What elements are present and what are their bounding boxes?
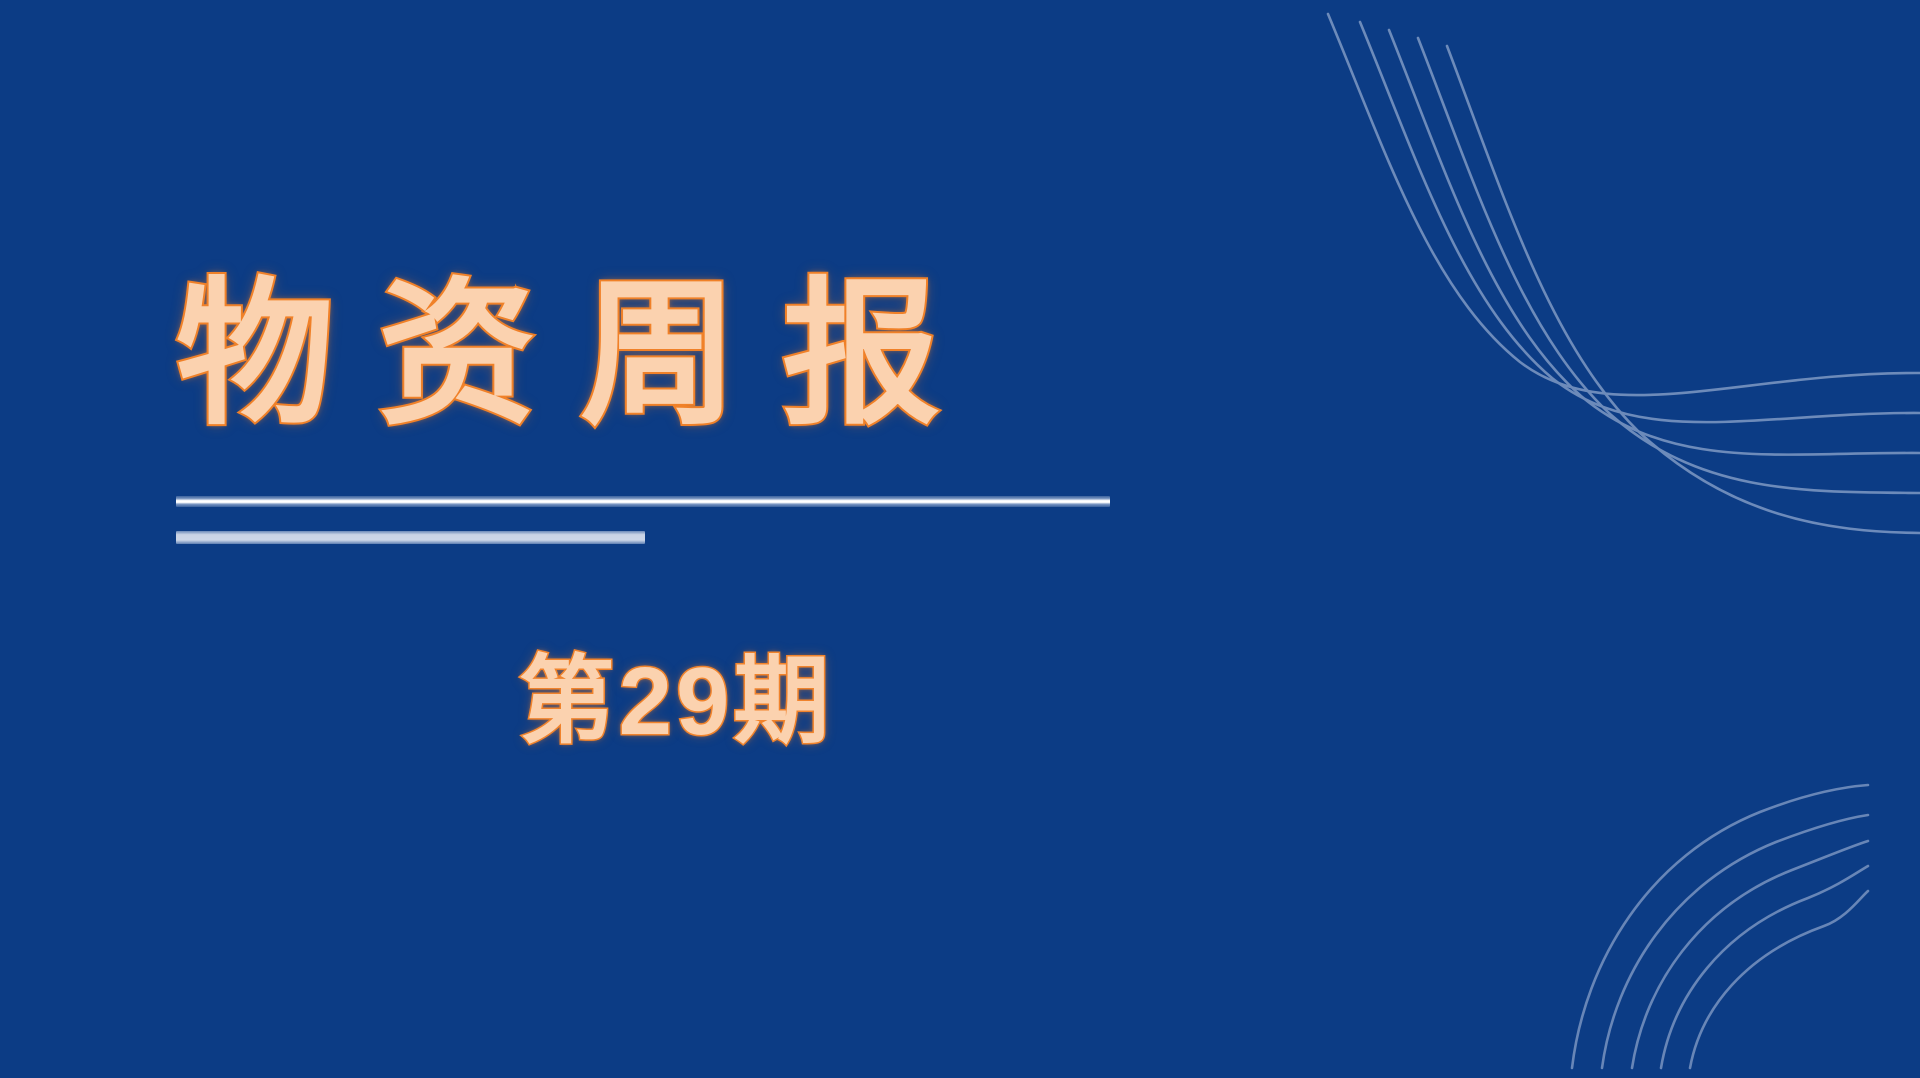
page-title: 物资周报 <box>176 276 1176 434</box>
title-block: 物资周报 <box>176 276 1176 434</box>
issue-label: 第29期 <box>519 650 834 754</box>
underline-bar-long <box>176 496 1110 507</box>
subtitle-block: 第29期 <box>176 650 1176 754</box>
cover-slide: 物资周报 第29期 <box>0 0 1920 1078</box>
title-underline-group <box>176 496 1110 544</box>
underline-bar-short <box>176 531 645 544</box>
